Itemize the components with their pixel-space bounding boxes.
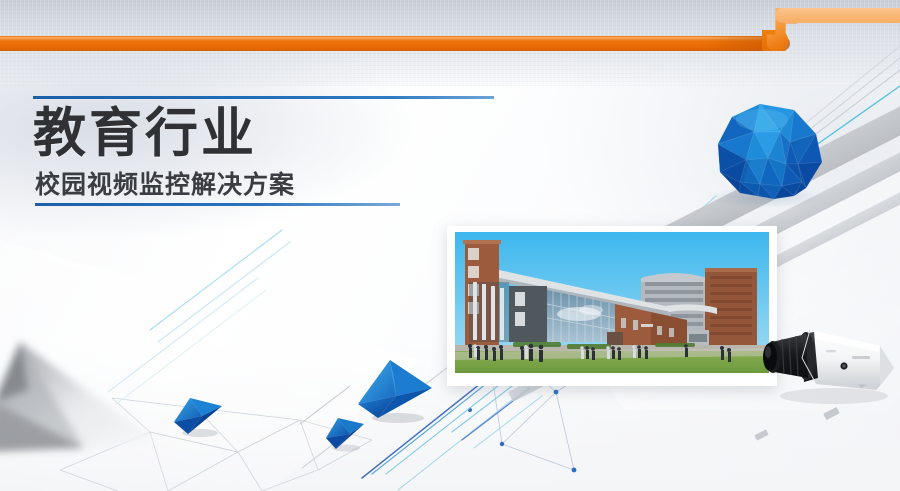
- campus-building-photo: [455, 232, 769, 373]
- campus-photo-frame: [447, 226, 777, 386]
- page-title: 教育行业: [33, 103, 257, 165]
- page-subtitle: 校园视频监控解决方案: [35, 168, 295, 202]
- blue-pyramid-small: [172, 392, 226, 438]
- orange-ribbon: [0, 0, 900, 86]
- cover-slide: 教育行业 校园视频监控解决方案: [0, 0, 900, 491]
- box-security-camera: [748, 312, 900, 408]
- blue-pyramid-tiny: [324, 414, 368, 452]
- title-rule-top: [33, 96, 494, 99]
- title-rule-bottom: [35, 203, 400, 206]
- low-poly-sphere: [702, 98, 828, 204]
- blurred-gray-arrow: [0, 330, 178, 460]
- ribbon-gloss: [0, 37, 770, 41]
- ribbon-upper-bar: [775, 8, 900, 23]
